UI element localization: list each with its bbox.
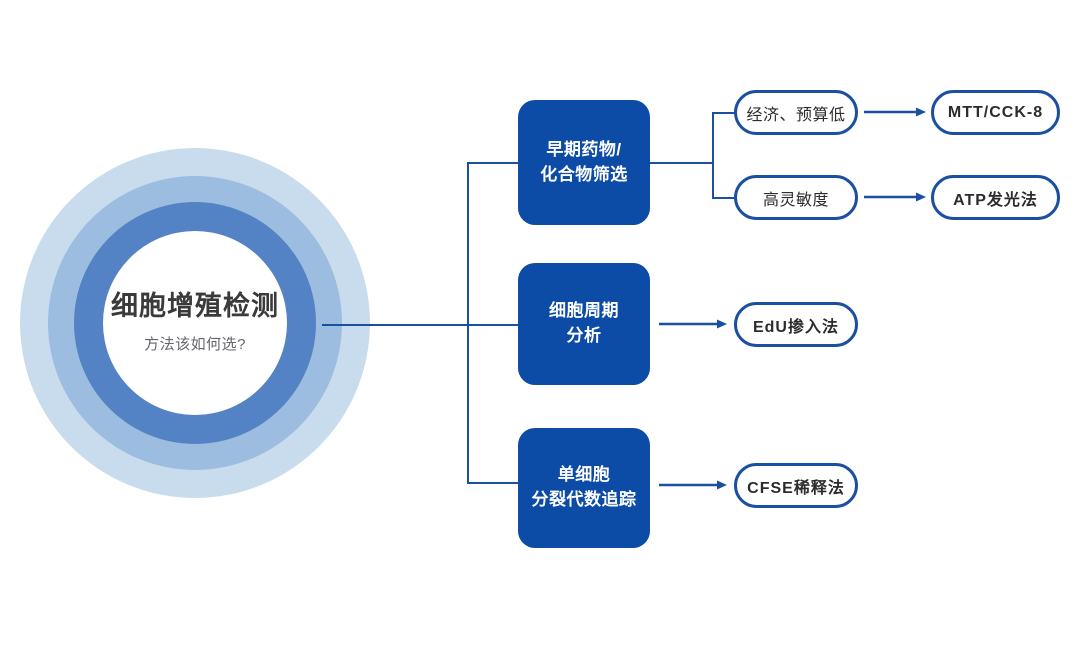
category-box-1[interactable]: 早期药物/ 化合物筛选	[518, 100, 650, 225]
arrow-right-icon	[864, 191, 928, 203]
hub-title: 细胞增殖检测	[111, 292, 279, 322]
hub-stem-line	[322, 324, 468, 326]
branch1-fork-lower	[712, 197, 736, 199]
diagram-canvas: 细胞增殖检测 方法该如何选? 早期药物/ 化合物筛选 经济、预算低 高灵敏度 M…	[0, 0, 1080, 647]
criteria-pill-1-1[interactable]: 经济、预算低	[734, 90, 858, 135]
trunk-arm-2	[467, 324, 519, 326]
method-pill-2-1[interactable]: EdU掺入法	[734, 302, 858, 347]
arrow-right-icon	[659, 479, 729, 491]
method-pill-3-1[interactable]: CFSE稀释法	[734, 463, 858, 508]
branch1-fork-upper	[712, 112, 736, 114]
branch1-fork-spine	[712, 112, 714, 199]
trunk-line	[467, 162, 469, 484]
criteria-pill-1-2[interactable]: 高灵敏度	[734, 175, 858, 220]
method-pill-1-2[interactable]: ATP发光法	[931, 175, 1060, 220]
trunk-arm-3	[467, 482, 519, 484]
arrow-right-icon	[659, 318, 729, 330]
arrow-right-icon	[864, 106, 928, 118]
hub-subtitle: 方法该如何选?	[144, 333, 246, 354]
method-pill-1-1[interactable]: MTT/CCK-8	[931, 90, 1060, 135]
trunk-arm-1	[467, 162, 519, 164]
hub-core: 细胞增殖检测 方法该如何选?	[103, 231, 287, 415]
branch1-fork-stem	[650, 162, 714, 164]
category-box-3[interactable]: 单细胞 分裂代数追踪	[518, 428, 650, 548]
category-box-2[interactable]: 细胞周期 分析	[518, 263, 650, 385]
